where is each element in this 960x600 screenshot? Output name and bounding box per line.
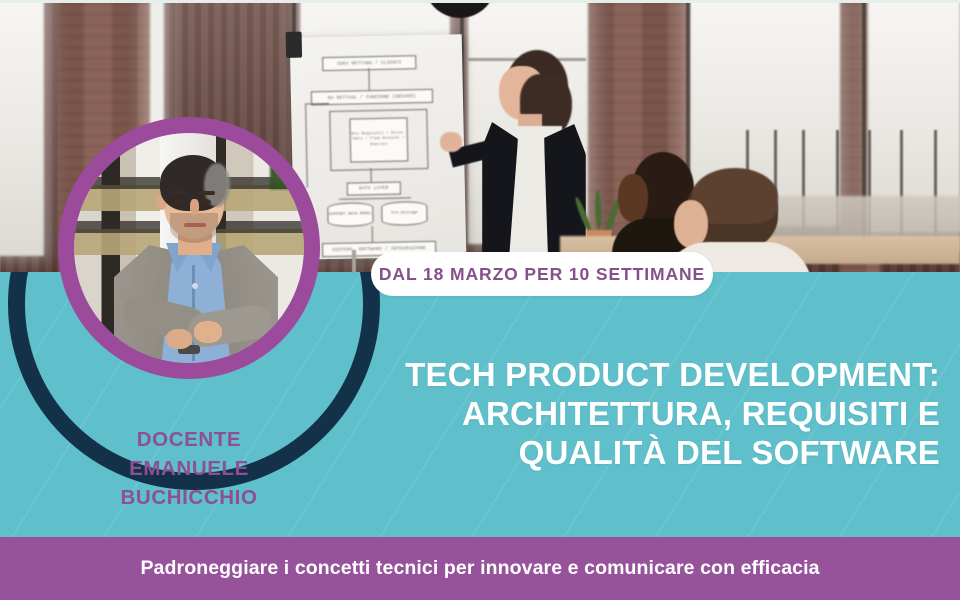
instructor-first-name: EMANUELE <box>60 454 318 483</box>
diagram-arrow <box>370 168 371 182</box>
leaf <box>595 190 602 230</box>
tagline-band: Padroneggiare i concetti tecnici per inn… <box>0 537 960 600</box>
diagram-line <box>339 197 411 200</box>
instructor-avatar <box>58 117 320 379</box>
top-edge-strip <box>0 0 960 3</box>
course-title-line-2: ARCHITETTURA, REQUISITI E <box>250 395 940 434</box>
window-pane <box>0 0 44 256</box>
instructor-block: DOCENTE EMANUELE BUCHICCHIO <box>60 425 318 512</box>
instructor-last-name: BUCHICCHIO <box>60 483 318 512</box>
diagram-box: DA RETTAGL / FUNZIONE (DRIVER) <box>311 89 433 106</box>
diagram-cylinder: SUPPORT DATA MODEL <box>327 202 373 227</box>
diagram-cylinder: Pre-Storage <box>381 201 427 226</box>
hand <box>440 132 462 152</box>
diagram-arrow <box>372 226 373 242</box>
face <box>674 200 708 248</box>
avatar-purple-ring <box>58 117 320 379</box>
diagram-box: Blu Requisiti / Strut. Dati / Flow Accou… <box>349 117 408 162</box>
course-poster: IDEA RETTANG / CLIENTI DA RETTAGL / FUNZ… <box>0 0 960 600</box>
flipchart-diagram: IDEA RETTANG / CLIENTI DA RETTAGL / FUNZ… <box>300 50 456 253</box>
course-title-line-3: QUALITÀ DEL SOFTWARE <box>250 434 940 473</box>
date-badge-label: DAL 18 MARZO PER 10 SETTIMANE <box>379 264 705 285</box>
date-badge: DAL 18 MARZO PER 10 SETTIMANE <box>371 252 713 296</box>
course-title-line-1: TECH PRODUCT DEVELOPMENT: <box>250 356 940 395</box>
tagline-text: Padroneggiare i concetti tecnici per inn… <box>140 557 819 580</box>
diagram-arrow <box>368 68 369 90</box>
face <box>618 174 648 222</box>
instructor-label: DOCENTE <box>60 425 318 454</box>
course-title: TECH PRODUCT DEVELOPMENT: ARCHITETTURA, … <box>250 356 940 473</box>
diagram-box: DATA LAYER <box>347 182 401 196</box>
leaf <box>573 196 594 235</box>
